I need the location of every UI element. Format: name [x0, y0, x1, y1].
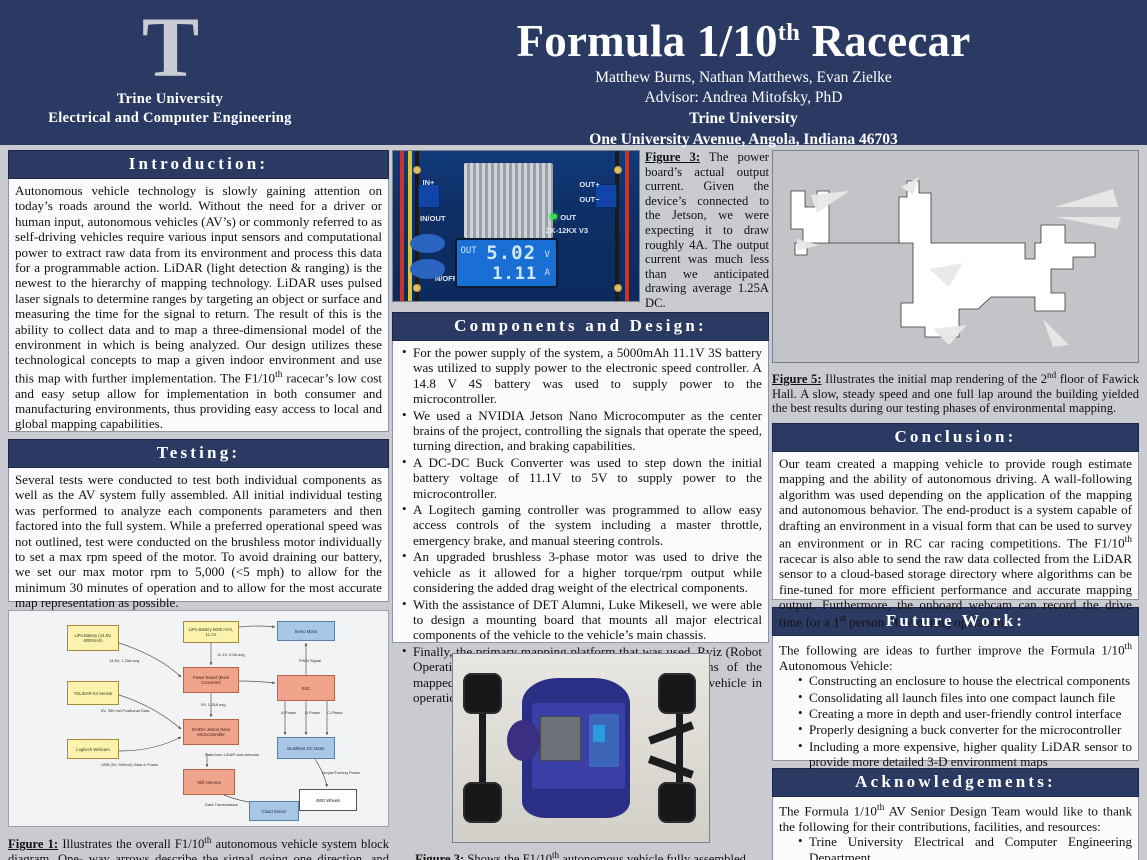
wire-yellow	[408, 151, 412, 301]
figure3-powerboard-photo: IN+ IN/OUT OUT+ OUT− OUT ZK-12KX V3 N/OF…	[392, 150, 640, 302]
block-node-wifi: Wifi Antenna	[183, 769, 235, 795]
block-node-lipo5000: LiPo Battery 5000 mAh, 11.1V	[183, 621, 239, 643]
acknowledgements-body: The Formula 1/10th AV Senior Design Team…	[772, 797, 1139, 860]
block-node-ydlidar: YDLiDAR-X4 Sensor	[67, 681, 119, 705]
components-heading: Components and Design:	[392, 312, 769, 341]
acknowledgements-intro: The Formula 1/10th AV Senior Design Team…	[779, 801, 1132, 834]
lcd-out-label: OUT	[460, 246, 476, 256]
components-bullet-list: For the power supply of the system, a 50…	[399, 345, 762, 705]
lcd-voltage-unit: V	[544, 250, 549, 260]
figure3-car-caption: Figure 3: Shows the F1/10th autonomous v…	[392, 848, 769, 860]
future-work-bullet-item: Constructing an enclosure to house the e…	[795, 673, 1132, 688]
lcd-current-unit: A	[544, 268, 549, 278]
block-edge-label-6: PWM Signal	[299, 659, 321, 664]
figure5-sup: nd	[1047, 370, 1056, 380]
components-bullet-item: An upgraded brushless 3-phase motor was …	[399, 549, 762, 595]
components-body: For the power supply of the system, a 50…	[392, 341, 769, 643]
poster-header: T Trine University Electrical and Comput…	[0, 0, 1147, 145]
figure3-powerboard-row: IN+ IN/OUT OUT+ OUT− OUT ZK-12KX V3 N/OF…	[392, 150, 769, 305]
lcd-display: OUT 5.02 V 1.11 A	[455, 238, 558, 288]
tire-front-left	[463, 673, 501, 714]
lidar-occupancy-map	[773, 151, 1139, 363]
screw-top-left	[413, 166, 421, 174]
poster-canvas: T Trine University Electrical and Comput…	[0, 0, 1147, 860]
column-right: Figure 5: Illustrates the initial map re…	[772, 150, 1139, 860]
acknowledgements-bullet-item: Trine University Electrical and Computer…	[795, 834, 1132, 860]
conclusion-section: Conclusion: Our team created a mapping v…	[772, 423, 1139, 600]
future-work-intro-b: Autonomous Vehicle:	[779, 658, 893, 673]
silk-model: ZK-12KX V3	[546, 226, 589, 235]
silk-out-minus: OUT−	[579, 195, 599, 204]
conclusion-heading: Conclusion:	[772, 423, 1139, 452]
status-led-icon	[550, 214, 557, 219]
tire-rear-right	[658, 782, 696, 823]
title-tail: Racecar	[800, 16, 970, 66]
components-bullet-item: We used a NVIDIA Jetson Nano Microcomput…	[399, 408, 762, 454]
future-work-sup: th	[1125, 642, 1132, 652]
future-work-body: The following are ideas to further impro…	[772, 636, 1139, 761]
tire-front-right	[658, 673, 696, 714]
testing-body: Several tests were conducted to test bot…	[8, 468, 389, 602]
future-work-intro-a: The following are ideas to further impro…	[779, 642, 1125, 657]
conclusion-body: Our team created a mapping vehicle to pr…	[772, 452, 1139, 600]
block-edge-label-10: Torque/Turning Power	[321, 771, 360, 776]
input-terminal	[418, 184, 440, 208]
button-down[interactable]	[410, 259, 444, 279]
block-node-lipo148: LiPo Battery (14.8V, 4000mAh)	[67, 625, 119, 651]
heatsink	[464, 163, 553, 238]
wire-red-right	[625, 151, 629, 301]
lcd-current-value: 1.11	[492, 264, 537, 284]
block-edge-label-7: A-Phase	[281, 711, 296, 716]
components-bullet-item: A DC-DC Buck Converter was used to step …	[399, 455, 762, 501]
figure5-caption: Figure 5: Illustrates the initial map re…	[772, 368, 1139, 416]
introduction-body: Autonomous vehicle technology is slowly …	[8, 179, 389, 432]
lidar-sensor	[507, 720, 540, 761]
screw-top-right	[614, 166, 622, 174]
figure5-map-image	[772, 150, 1139, 363]
introduction-text-a: Autonomous vehicle technology is slowly …	[15, 183, 382, 385]
author-list: Matthew Burns, Nathan Matthews, Evan Zie…	[340, 68, 1147, 88]
title-main: Formula 1/10	[517, 16, 778, 66]
block-node-servo: Servo Motor	[277, 621, 335, 641]
block-edge-label-8: B-Phase	[305, 711, 320, 716]
buck-converter-lcd	[593, 725, 606, 742]
future-work-bullet-item: Including a more expensive, higher quali…	[795, 739, 1132, 770]
figure1-label: Figure 1:	[8, 837, 58, 851]
figure3-car-label: Figure 3:	[415, 852, 464, 860]
block-edge-label-11: Data Transmission	[205, 803, 238, 808]
figure1-text-a: Illustrates the overall F1/10	[58, 837, 204, 851]
conclusion-sup-1: th	[1125, 535, 1132, 545]
future-work-bullet-item: Properly designing a buck converter for …	[795, 722, 1132, 737]
wire-red	[400, 151, 404, 301]
testing-heading: Testing:	[8, 439, 389, 468]
figure3-powerboard-caption: Figure 3: The power board’s actual outpu…	[645, 150, 769, 311]
conclusion-text-a: Our team created a mapping vehicle to pr…	[779, 456, 1132, 550]
introduction-heading: Introduction:	[8, 150, 389, 179]
figure3-car-photo	[452, 653, 710, 843]
figure5-text-a: Illustrates the initial map rendering of…	[822, 372, 1047, 386]
title-block: Formula 1/10th Racecar Matthew Burns, Na…	[340, 0, 1147, 145]
acknowledgements-section: Acknowledgements: The Formula 1/10th AV …	[772, 768, 1139, 860]
future-work-bullet-item: Consolidating all launch files into one …	[795, 690, 1132, 705]
block-edge-label-1: 11.1V, 0.5A avg	[217, 653, 245, 658]
figure3-car-text-b: autonomous vehicle fully assembled	[559, 852, 746, 860]
screw-bottom-right	[614, 284, 622, 292]
block-node-bldc: Brushless DC Motor	[277, 737, 335, 759]
figure3-powerboard-label: Figure 3:	[645, 150, 700, 164]
figure1-caption: Figure 1: Illustrates the overall F1/10t…	[8, 833, 389, 860]
jetson-nano-board	[540, 716, 581, 761]
testing-section: Testing: Several tests were conducted to…	[8, 439, 389, 602]
lcd-voltage-value: 5.02	[486, 242, 536, 264]
figure1-block-diagram-image: LiPo Battery (14.8V, 4000mAh)LiPo Batter…	[8, 610, 389, 827]
block-node-wheels: 4WD Wheels	[299, 789, 357, 811]
acknowledgements-intro-a: The Formula 1/10	[779, 803, 877, 818]
column-left: Introduction: Autonomous vehicle technol…	[8, 150, 389, 860]
acknowledgements-heading: Acknowledgements:	[772, 768, 1139, 797]
components-bullet-item: For the power supply of the system, a 50…	[399, 345, 762, 407]
future-work-bullet-item: Creating a more in depth and user-friend…	[795, 706, 1132, 721]
introduction-section: Introduction: Autonomous vehicle technol…	[8, 150, 389, 432]
trine-t-logo-icon: T	[0, 4, 340, 90]
figure3-powerboard-text: The power board’s actual output current.…	[645, 150, 769, 310]
logo-department-name: Electrical and Computer Engineering	[0, 109, 340, 128]
screw-bottom-left	[413, 284, 421, 292]
column-center: IN+ IN/OUT OUT+ OUT− OUT ZK-12KX V3 N/OF…	[392, 150, 769, 860]
block-node-cloud: Cloud Server	[249, 801, 299, 821]
block-node-jetson: NVIDIA Jetson Nano Microcontroller	[183, 719, 239, 745]
university-line: Trine University	[340, 108, 1147, 129]
block-edge-label-0: 14.8V, 1.25A avg	[109, 659, 139, 664]
silk-in-out: IN/OUT	[420, 214, 445, 223]
page-title: Formula 1/10th Racecar	[340, 0, 1147, 68]
tire-rear-left	[463, 782, 501, 823]
components-section: Components and Design: For the power sup…	[392, 312, 769, 643]
block-edge-label-5: Data from LiDAR and webcam	[205, 753, 259, 758]
block-edge-label-4: USB (5V, 500mA) Data & Power	[101, 763, 158, 768]
block-node-esc: ESC	[277, 675, 335, 701]
figure5-label: Figure 5:	[772, 372, 822, 386]
university-logo-block: T Trine University Electrical and Comput…	[0, 4, 340, 142]
future-work-bullet-list: Constructing an enclosure to house the e…	[795, 673, 1132, 769]
acknowledgements-bullet-list: Trine University Electrical and Computer…	[795, 834, 1132, 860]
block-edge-label-2: 5V, 1.25A avg	[201, 703, 226, 708]
advisor-line: Advisor: Andrea Mitofsky, PhD	[340, 88, 1147, 108]
silk-in-plus: IN+	[423, 178, 435, 187]
block-edge-label-3: 5V, 350 mA Positional Data	[101, 709, 149, 714]
title-superscript: th	[778, 19, 800, 46]
silk-out-plus: OUT+	[579, 180, 599, 189]
block-node-webcam: Logitech Webcam	[67, 739, 119, 759]
block-node-powerboard: Power Board (Buck Converter)	[183, 667, 239, 693]
silk-out: OUT	[560, 213, 576, 222]
figure3-car-text-a: Shows the F1/10	[464, 852, 552, 860]
address-line: One University Avenue, Angola, Indiana 4…	[340, 129, 1147, 150]
future-work-intro: The following are ideas to further impro…	[779, 640, 1132, 673]
components-bullet-item: A Logitech gaming controller was program…	[399, 502, 762, 548]
logo-university-name: Trine University	[0, 90, 340, 109]
block-edge-label-9: C-Phase	[327, 711, 343, 716]
components-bullet-item: With the assistance of DET Alumni, Luke …	[399, 597, 762, 643]
button-up[interactable]	[410, 234, 444, 254]
